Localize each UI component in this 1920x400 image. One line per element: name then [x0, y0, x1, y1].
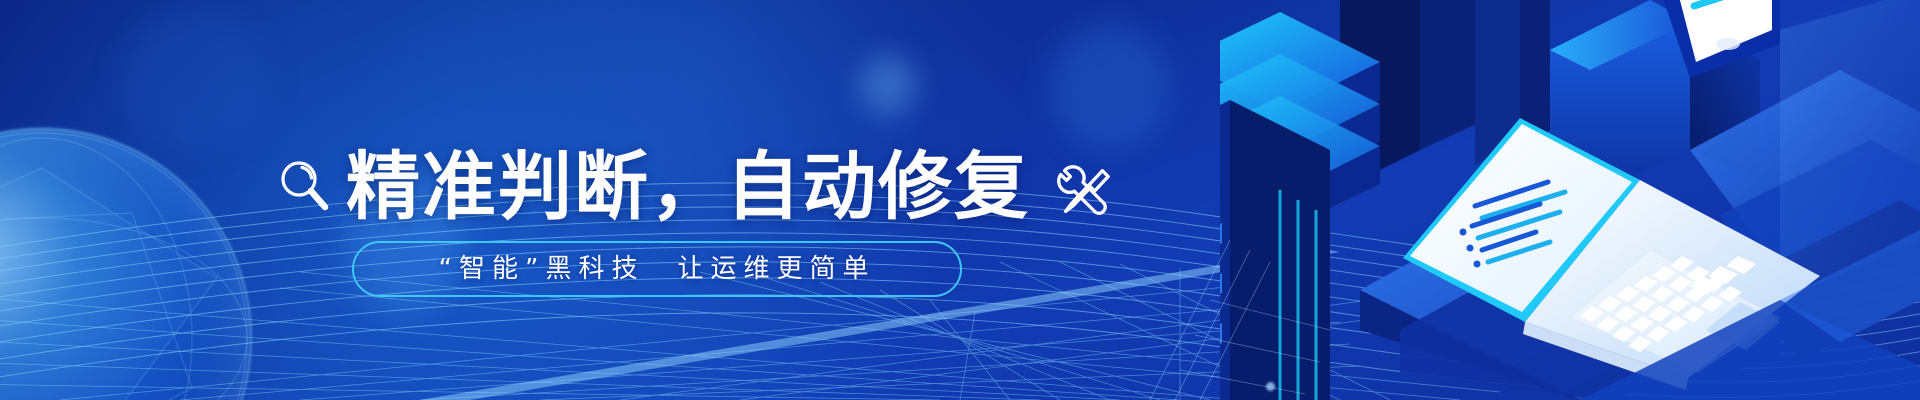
magnifier-icon — [278, 158, 330, 214]
office-building-windows — [1220, 100, 1330, 400]
isometric-illustration — [1220, 0, 1920, 400]
headline-row: 精准判断，自动修复 — [278, 150, 1114, 224]
headline-comma: ， — [650, 144, 726, 230]
hero-banner: 精准判断，自动修复 “智能”黑科技 让运维更简单 — [0, 0, 1920, 400]
headline-part1: 精准判断 — [346, 144, 650, 230]
headline-part2: 自动修复 — [726, 144, 1030, 230]
subtitle-pill: “智能”黑科技 让运维更简单 — [352, 241, 962, 297]
subtitle-text: “智能”黑科技 让运维更简单 — [439, 256, 876, 282]
headline-text: 精准判断，自动修复 — [346, 150, 1030, 224]
headline-block: 精准判断，自动修复 “智能”黑科技 让运维更简单 — [0, 0, 1180, 400]
wrench-screwdriver-icon — [1052, 161, 1114, 223]
